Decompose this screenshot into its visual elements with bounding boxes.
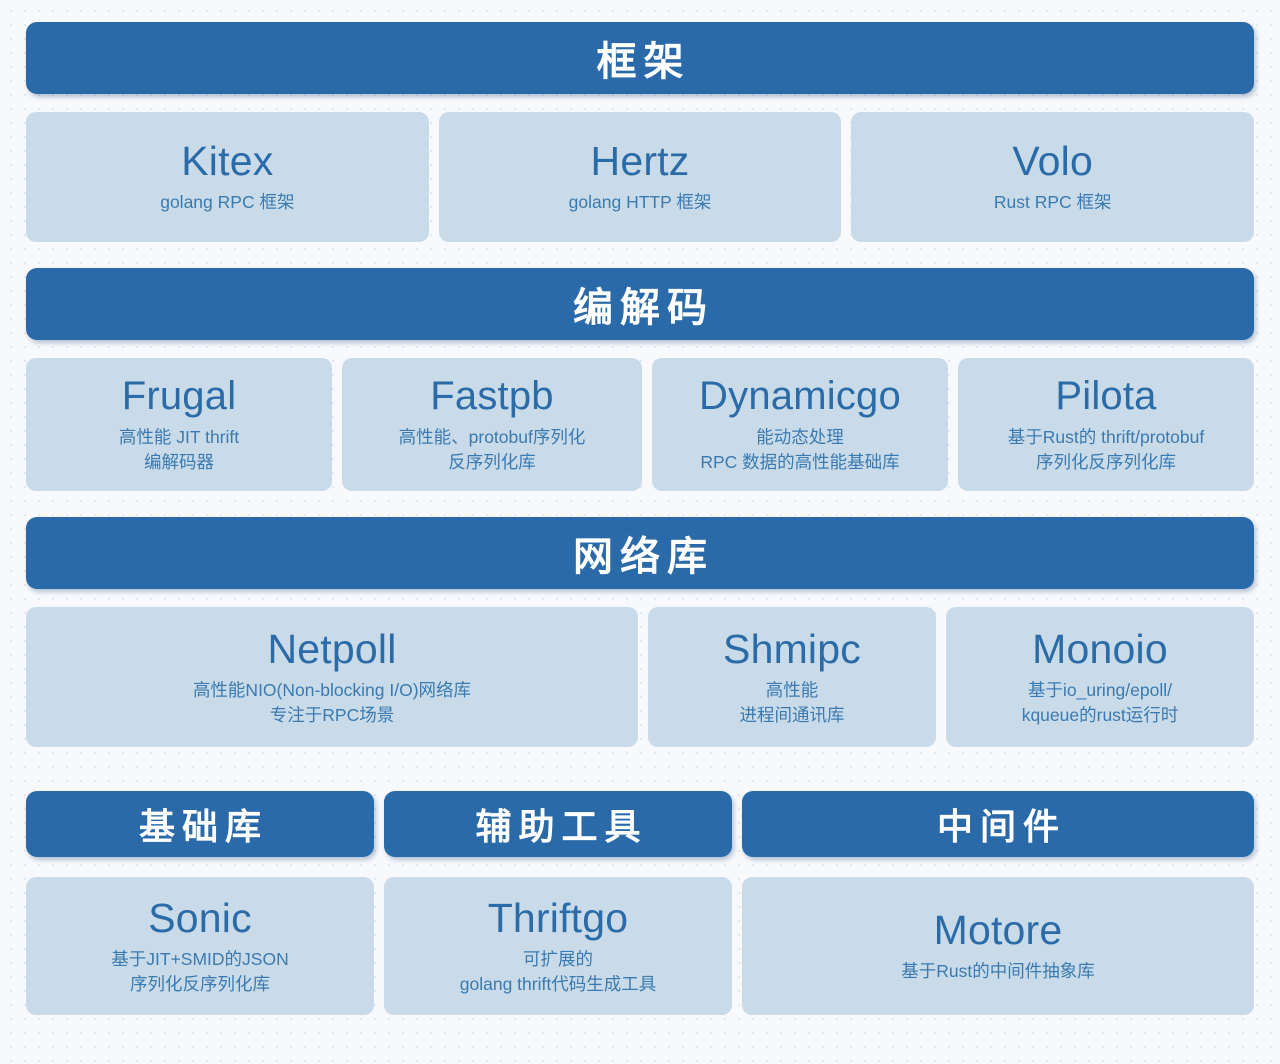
card-title: Kitex — [181, 139, 273, 183]
card-dynamicgo[interactable]: Dynamicgo 能动态处理 RPC 数据的高性能基础库 — [652, 358, 948, 491]
section-header-frameworks[interactable]: 框架 — [26, 22, 1254, 94]
card-pilota[interactable]: Pilota 基于Rust的 thrift/protobuf 序列化反序列化库 — [958, 358, 1254, 491]
section-header-row-codec: 编解码 — [26, 268, 1254, 340]
section-header-label: 框架 — [590, 29, 691, 87]
card-title: Frugal — [122, 375, 237, 418]
section-header-label: 基础库 — [132, 798, 268, 850]
section-header-label: 网络库 — [566, 524, 714, 582]
card-description: Rust RPC 框架 — [994, 190, 1112, 215]
section-header-tooling[interactable]: 辅助工具 — [384, 791, 732, 857]
card-row-bottom: Sonic 基于JIT+SMID的JSON 序列化反序列化库 Thriftgo … — [26, 877, 1254, 1015]
card-title: Sonic — [148, 896, 252, 940]
architecture-board: 框架 Kitex golang RPC 框架 Hertz golang HTTP… — [0, 0, 1280, 1064]
card-title: Motore — [934, 908, 1063, 952]
card-description: 高性能 进程间通讯库 — [740, 678, 845, 728]
card-fastpb[interactable]: Fastpb 高性能、protobuf序列化 反序列化库 — [342, 358, 642, 491]
card-thriftgo[interactable]: Thriftgo 可扩展的 golang thrift代码生成工具 — [384, 877, 732, 1015]
card-title: Dynamicgo — [699, 375, 901, 418]
card-row-network: Netpoll 高性能NIO(Non-blocking I/O)网络库 专注于R… — [26, 607, 1254, 747]
card-title: Shmipc — [723, 627, 861, 671]
card-description: 高性能NIO(Non-blocking I/O)网络库 专注于RPC场景 — [193, 678, 471, 728]
card-description: 基于Rust的 thrift/protobuf 序列化反序列化库 — [1008, 425, 1204, 475]
card-description: 基于JIT+SMID的JSON 序列化反序列化库 — [111, 947, 288, 997]
card-row-codec: Frugal 高性能 JIT thrift 编解码器 Fastpb 高性能、pr… — [26, 358, 1254, 491]
card-title: Fastpb — [430, 375, 554, 418]
section-header-label: 辅助工具 — [468, 798, 647, 850]
section-header-label: 编解码 — [566, 275, 714, 333]
card-title: Hertz — [591, 139, 690, 183]
card-frugal[interactable]: Frugal 高性能 JIT thrift 编解码器 — [26, 358, 332, 491]
section-header-network[interactable]: 网络库 — [26, 517, 1254, 589]
card-title: Volo — [1012, 139, 1093, 183]
section-header-foundation[interactable]: 基础库 — [26, 791, 374, 857]
card-monoio[interactable]: Monoio 基于io_uring/epoll/ kqueue的rust运行时 — [946, 607, 1254, 747]
section-header-middleware[interactable]: 中间件 — [742, 791, 1254, 857]
card-description: 高性能、protobuf序列化 反序列化库 — [399, 425, 586, 475]
section-header-codec[interactable]: 编解码 — [26, 268, 1254, 340]
section-header-row-bottom: 基础库 辅助工具 中间件 — [26, 791, 1254, 857]
card-title: Netpoll — [267, 627, 396, 671]
section-header-label: 中间件 — [930, 798, 1066, 850]
card-motore[interactable]: Motore 基于Rust的中间件抽象库 — [742, 877, 1254, 1015]
card-description: 可扩展的 golang thrift代码生成工具 — [460, 947, 656, 997]
card-title: Monoio — [1032, 627, 1168, 671]
card-title: Thriftgo — [488, 896, 629, 940]
section-header-row-frameworks: 框架 — [26, 22, 1254, 94]
card-sonic[interactable]: Sonic 基于JIT+SMID的JSON 序列化反序列化库 — [26, 877, 374, 1015]
card-volo[interactable]: Volo Rust RPC 框架 — [851, 112, 1254, 242]
card-description: 基于Rust的中间件抽象库 — [901, 959, 1094, 984]
card-description: golang HTTP 框架 — [569, 190, 712, 215]
card-row-frameworks: Kitex golang RPC 框架 Hertz golang HTTP 框架… — [26, 112, 1254, 242]
card-description: 能动态处理 RPC 数据的高性能基础库 — [700, 425, 899, 475]
card-kitex[interactable]: Kitex golang RPC 框架 — [26, 112, 429, 242]
card-description: 基于io_uring/epoll/ kqueue的rust运行时 — [1022, 678, 1179, 728]
card-netpoll[interactable]: Netpoll 高性能NIO(Non-blocking I/O)网络库 专注于R… — [26, 607, 638, 747]
card-description: golang RPC 框架 — [160, 190, 294, 215]
card-description: 高性能 JIT thrift 编解码器 — [119, 425, 239, 475]
section-header-row-network: 网络库 — [26, 517, 1254, 589]
card-shmipc[interactable]: Shmipc 高性能 进程间通讯库 — [648, 607, 936, 747]
card-hertz[interactable]: Hertz golang HTTP 框架 — [439, 112, 842, 242]
card-title: Pilota — [1055, 375, 1156, 418]
